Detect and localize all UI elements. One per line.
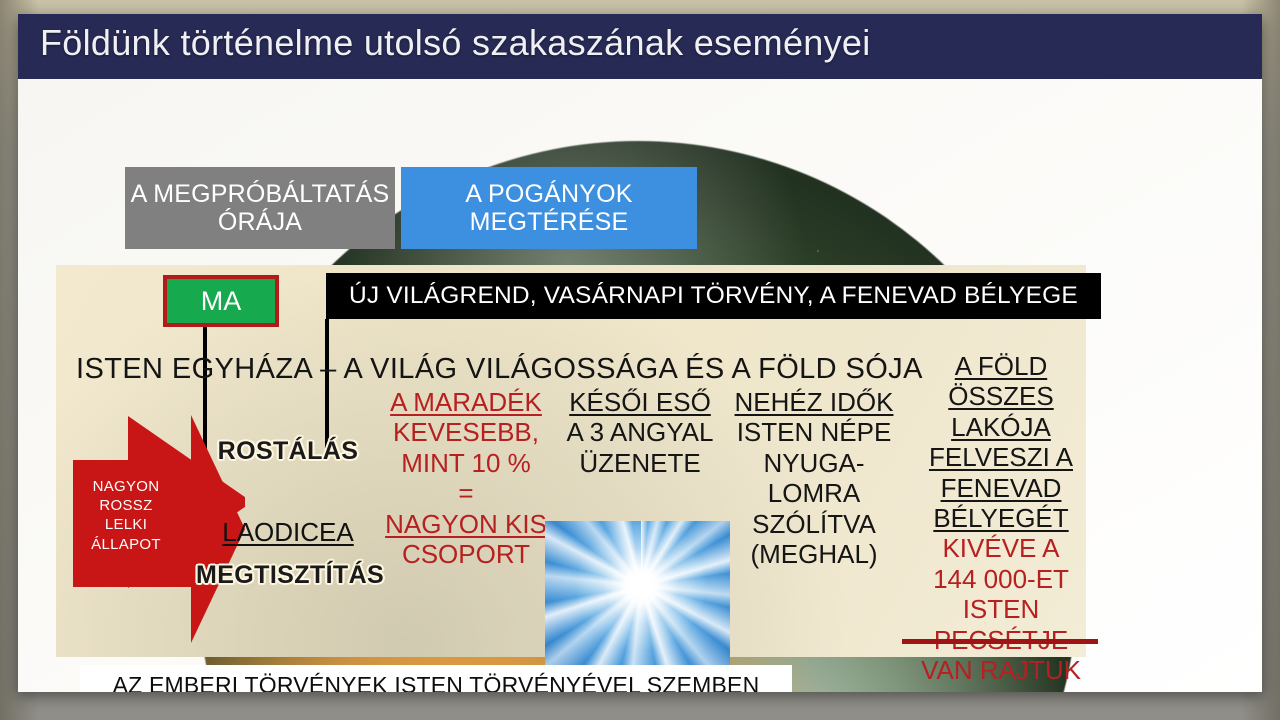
slide-title-bar: Földünk történelme utolsó szakaszának es… <box>18 14 1262 79</box>
stage-item-rostalas: ROSTÁLÁS <box>208 437 368 466</box>
column-line: (MEGHAL) <box>730 539 898 569</box>
column-line: KÉSŐI ESŐ <box>552 387 728 417</box>
column-fold-osszes-lakoja: A FÖLD ÖSSZESLAKÓJAFELVESZI AFENEVADBÉLY… <box>902 351 1100 685</box>
column-line: FENEVAD <box>902 473 1100 503</box>
column-line: KIVÉVE A <box>902 533 1100 563</box>
red-divider-rule <box>902 639 1098 644</box>
stage-item-laodicea: LAODICEA <box>208 517 368 548</box>
column-line: = <box>380 478 552 508</box>
column-line: ISTEN PECSÉTJE <box>902 594 1100 655</box>
slide-body: A MEGPRÓBÁLTATÁS ÓRÁJA A POGÁNYOK MEGTÉR… <box>18 79 1262 692</box>
column-line: SZÓLÍTVA <box>730 509 898 539</box>
column-line: 144 000-ET <box>902 564 1100 594</box>
column-line: NYUGA- <box>730 448 898 478</box>
black-banner-events: ÚJ VILÁGREND, VASÁRNAPI TÖRVÉNY, A FENEV… <box>326 273 1101 319</box>
column-line: CSOPORT <box>380 539 552 569</box>
column-maradek: A MARADÉKKEVESEBB,MINT 10 %=NAGYON KISCS… <box>380 387 552 569</box>
column-line: KEVESEBB, <box>380 417 552 447</box>
arrow-label-line: LELKI <box>105 516 147 533</box>
column-line: A 3 ANGYAL <box>552 417 728 447</box>
column-line: MINT 10 % <box>380 448 552 478</box>
arrow-label-line: ÁLLAPOT <box>91 536 161 553</box>
column-line: ÜZENETE <box>552 448 728 478</box>
slide-title: Földünk történelme utolsó szakaszának es… <box>40 22 871 64</box>
column-nehez-idok: NEHÉZ IDŐKISTEN NÉPENYUGA-LOMRASZÓLÍTVA(… <box>730 387 898 569</box>
ma-marker-box[interactable]: MA <box>163 275 279 327</box>
column-line: NEHÉZ IDŐK <box>730 387 898 417</box>
column-line: LOMRA <box>730 478 898 508</box>
column-line: LAKÓJA <box>902 412 1100 442</box>
presentation-slide: Földünk történelme utolsó szakaszának es… <box>18 14 1262 692</box>
arrow-label-line: NAGYON <box>93 478 160 495</box>
column-line: ISTEN NÉPE <box>730 417 898 447</box>
column-line: NAGYON KIS <box>380 509 552 539</box>
column-line: VAN RAJTUK <box>902 655 1100 685</box>
arrow-label: NAGYONROSSZLELKIÁLLAPOT <box>80 477 172 554</box>
panel-headline: ISTEN EGYHÁZA – A VILÁG VILÁGOSSÁGA ÉS A… <box>76 353 923 386</box>
column-line: A FÖLD ÖSSZES <box>902 351 1100 412</box>
stage-item-megtisztitas: MEGTISZTÍTÁS <box>196 561 382 590</box>
column-kesoi-eso: KÉSŐI ESŐA 3 ANGYALÜZENETE <box>552 387 728 478</box>
column-line: A MARADÉK <box>380 387 552 417</box>
column-line: BÉLYEGÉT <box>902 503 1100 533</box>
chip-megprobaltatas-oraja[interactable]: A MEGPRÓBÁLTATÁS ÓRÁJA <box>125 167 395 249</box>
column-line: FELVESZI A <box>902 442 1100 472</box>
arrow-label-line: ROSSZ <box>99 497 152 514</box>
chip-poganyok-megterese[interactable]: A POGÁNYOK MEGTÉRÉSE <box>401 167 697 249</box>
white-banner-human-laws: AZ EMBERI TÖRVÉNYEK ISTEN TÖRVÉNYÉVEL SZ… <box>80 665 792 692</box>
sun-burst-image <box>545 521 730 668</box>
